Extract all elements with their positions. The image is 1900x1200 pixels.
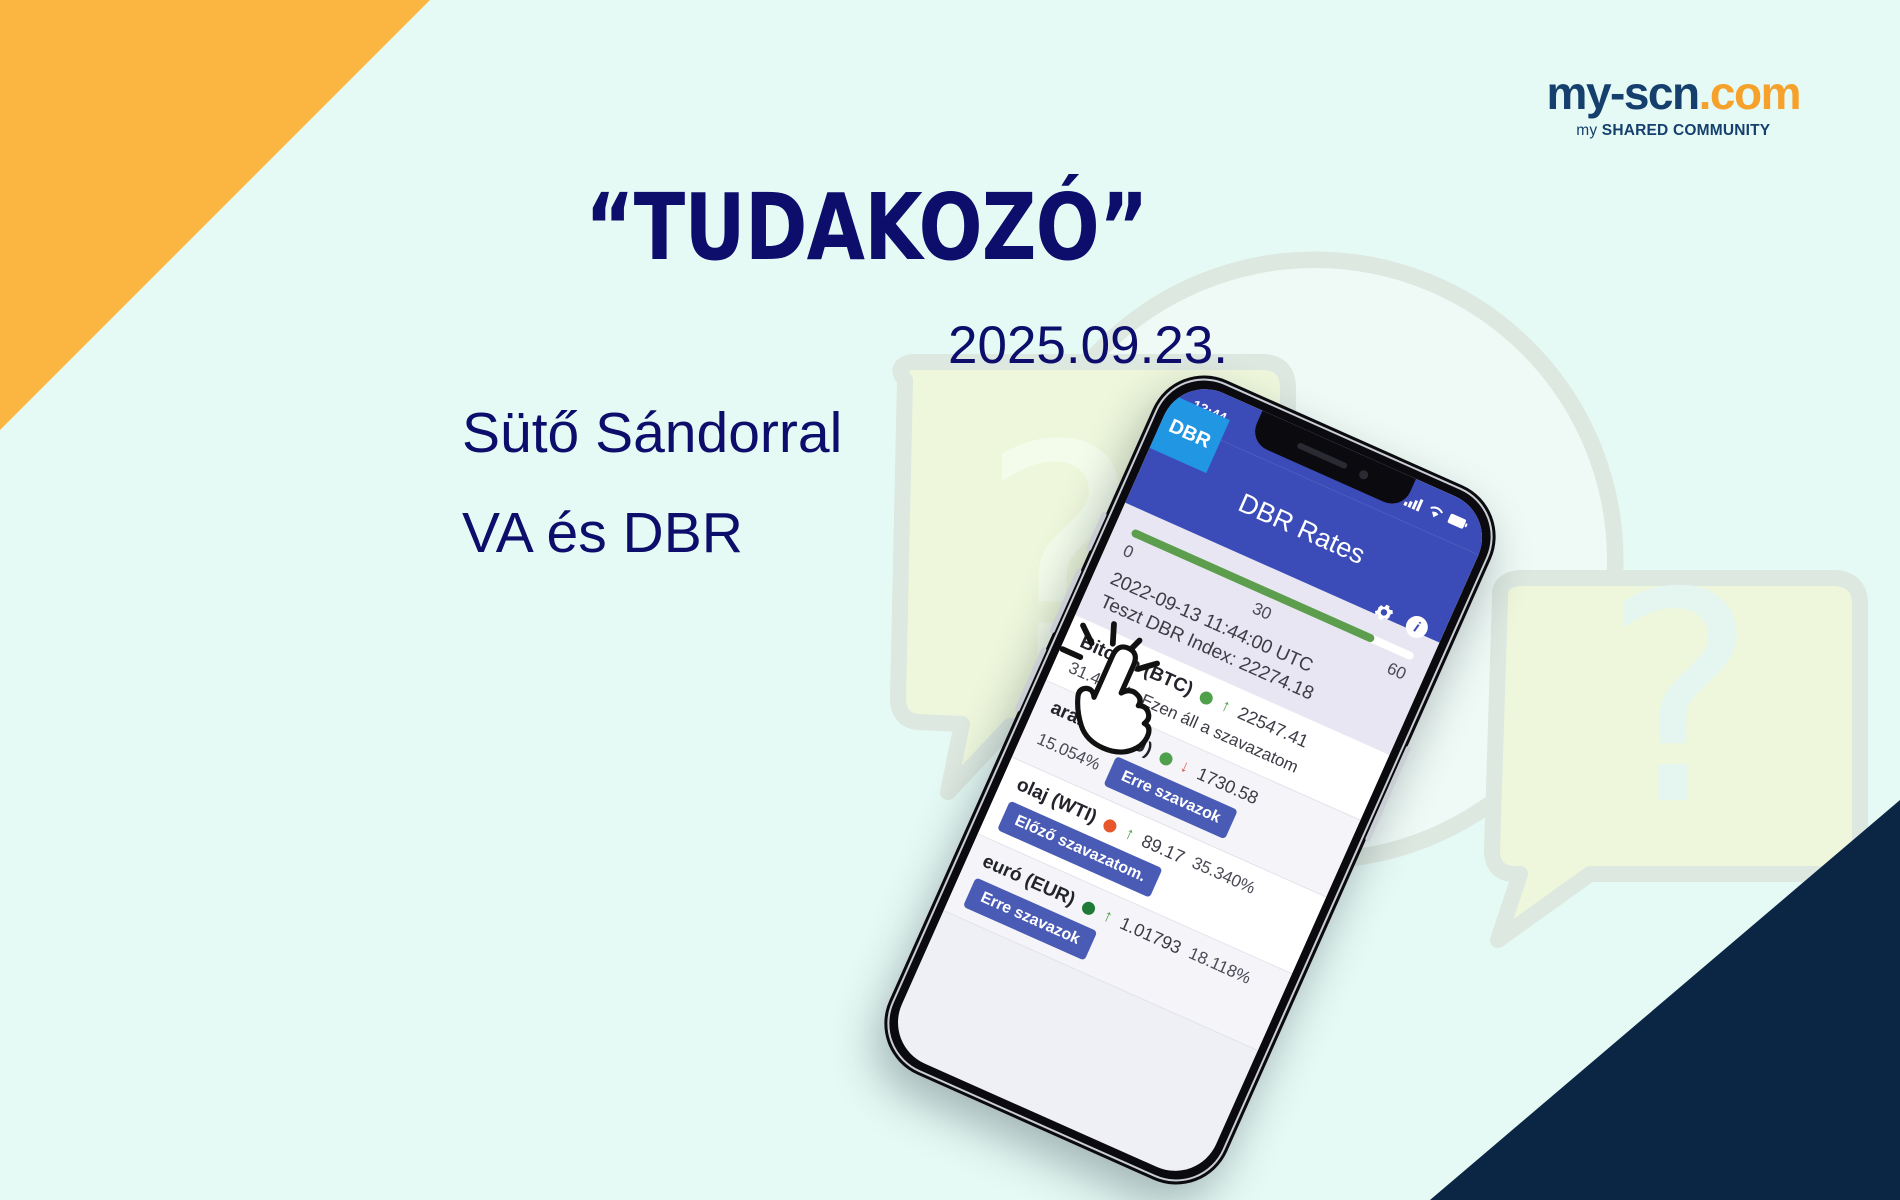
- decor-question-mark-right: ?: [1603, 532, 1757, 869]
- brand-logo: my-scn.com my SHARED COMMUNITY: [1547, 70, 1800, 140]
- corner-wedge-top-left: [0, 0, 430, 430]
- episode-topic: VA és DBR: [462, 500, 743, 566]
- wifi-icon: [1425, 502, 1446, 521]
- brand-tagline-main: SHARED COMMUNITY: [1602, 122, 1771, 139]
- brand-logo-wordmark: my-scn.com: [1547, 70, 1800, 116]
- app-bar-title: DBR Rates: [1234, 487, 1370, 570]
- battery-icon: [1447, 512, 1470, 531]
- slide-canvas: ? ? my-scn.com my SHARED COMMUNITY “TUDA…: [0, 0, 1900, 1200]
- dbr-progress-max-label: 60: [1384, 659, 1409, 685]
- trend-up-icon: ↑: [1100, 906, 1116, 928]
- trend-up-icon: ↑: [1122, 823, 1138, 845]
- phone-mockup: 13:44: [866, 358, 1513, 1200]
- status-dot-icon: [1157, 750, 1174, 767]
- page-title: “TUDAKOZÓ”: [585, 182, 1148, 274]
- trend-up-icon: ↑: [1218, 695, 1234, 717]
- brand-tagline-prefix: my: [1576, 122, 1602, 139]
- phone-earpiece: [1296, 442, 1348, 469]
- brand-logo-tld: .com: [1699, 67, 1800, 119]
- brand-logo-name: my-scn: [1547, 67, 1699, 119]
- episode-date: 2025.09.23.: [948, 315, 1228, 376]
- brand-tagline: my SHARED COMMUNITY: [1547, 122, 1800, 140]
- status-dot-icon: [1080, 899, 1097, 916]
- phone-front-camera: [1357, 468, 1369, 480]
- trend-down-icon: ↓: [1177, 756, 1193, 778]
- dbr-progress-min-label: 0: [1120, 541, 1137, 563]
- phone-screen: 13:44: [884, 375, 1497, 1185]
- status-dot-icon: [1102, 817, 1119, 834]
- corner-wedge-bottom-right: [1430, 800, 1900, 1200]
- dbr-progress-mid-label: 30: [1249, 599, 1274, 625]
- guest-name: Sütő Sándorral: [462, 400, 842, 466]
- status-dot-icon: [1198, 689, 1215, 706]
